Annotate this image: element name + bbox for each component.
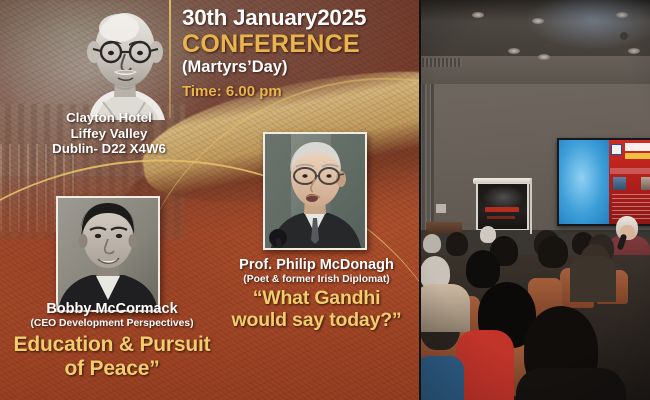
speaker-photo-mcdonagh (263, 132, 367, 250)
poster-headline: 30th January2025 CONFERENCE (Martyrs’Day… (182, 6, 414, 100)
venue-line-3: Dublin- D22 X4W6 (34, 141, 184, 157)
room-air-vent (422, 58, 462, 67)
screen-poster-title (625, 143, 650, 151)
speaker-quote-mcdonagh-line2: would say today?” (213, 311, 420, 331)
presentation-screen (557, 138, 650, 226)
screen-blue-panel (559, 140, 609, 224)
speaker-role-mcdonagh: (Poet & former Irish Diplomat) (213, 274, 420, 287)
speaker-block-mcdonagh: Prof. Philip McDonagh (Poet & former Iri… (213, 258, 420, 331)
screen-poster-band (610, 168, 650, 175)
gandhi-portrait (73, 2, 177, 120)
audience-head (423, 234, 441, 253)
speaker-photo-mcdonagh-image (265, 134, 365, 248)
speaker-quote-mccormack-line1: Education & Pursuit (0, 334, 228, 355)
screen-poster-photo-1 (613, 177, 626, 190)
ceiling-downlight-icon (532, 18, 544, 24)
ceiling-downlight-icon (538, 54, 550, 60)
room-light-glow (526, 0, 650, 50)
event-date: 30th January2025 (182, 6, 414, 30)
audience-red-coat (456, 330, 514, 400)
roll-up-banner-subtext (487, 216, 515, 219)
ceiling-downlight-icon (508, 48, 520, 54)
venue-line-1: Clayton Hotel (34, 110, 184, 126)
ceiling-downlight-icon (628, 48, 640, 54)
event-poster: 30th January2025 CONFERENCE (Martyrs’Day… (0, 0, 420, 400)
speaker-name-mccormack: Bobby McCormack (0, 302, 228, 318)
speaker-quote-mccormack-line2: of Peace” (0, 358, 228, 379)
panel-divider (419, 0, 421, 400)
roll-up-banner (476, 183, 529, 230)
presentation-screen-content (559, 140, 650, 224)
speaker-name-mcdonagh: Prof. Philip McDonagh (213, 258, 420, 274)
audience-shoulders (570, 256, 616, 302)
screen-poster-subtitle (625, 153, 650, 160)
roll-up-banner-pole (530, 178, 532, 234)
venue-line-2: Liffey Valley (34, 126, 184, 142)
speaker-block-mccormack: Bobby McCormack (CEO Development Perspec… (0, 302, 228, 379)
event-subtitle: (Martyrs’Day) (182, 58, 414, 78)
screen-poster-logo-icon (611, 144, 622, 155)
audience-head (466, 250, 500, 288)
ceiling-sensor-icon (620, 32, 628, 40)
audience-foreground-shoulders (516, 368, 626, 400)
ceiling-downlight-icon (616, 12, 628, 18)
roll-up-banner-headline (485, 207, 519, 212)
audience-head (538, 236, 568, 268)
wall-sign (436, 204, 446, 213)
speaker-quote-mcdonagh-line1: “What Gandhi (213, 289, 420, 309)
conference-room-photo (420, 0, 650, 400)
event-venue: Clayton Hotel Liffey Valley Dublin- D22 … (34, 110, 184, 157)
speaker-photo-mccormack-image (58, 198, 158, 310)
audience-blue-garment (420, 356, 464, 400)
poster-photo-composite: 30th January2025 CONFERENCE (Martyrs’Day… (0, 0, 650, 400)
roll-up-banner-artwork (478, 184, 527, 229)
screen-poster-text-lines (612, 194, 650, 219)
speaker-role-mccormack: (CEO Development Perspectives) (0, 318, 228, 331)
speaker-photo-mccormack (56, 196, 160, 312)
screen-poster-photo-2 (641, 177, 650, 190)
event-title: CONFERENCE (182, 30, 414, 58)
audience-fur-coat (420, 284, 470, 332)
audience-head (446, 232, 468, 256)
ceiling-downlight-icon (472, 12, 484, 18)
event-time: Time: 6.00 pm (182, 83, 414, 100)
room-curtain (420, 84, 431, 230)
